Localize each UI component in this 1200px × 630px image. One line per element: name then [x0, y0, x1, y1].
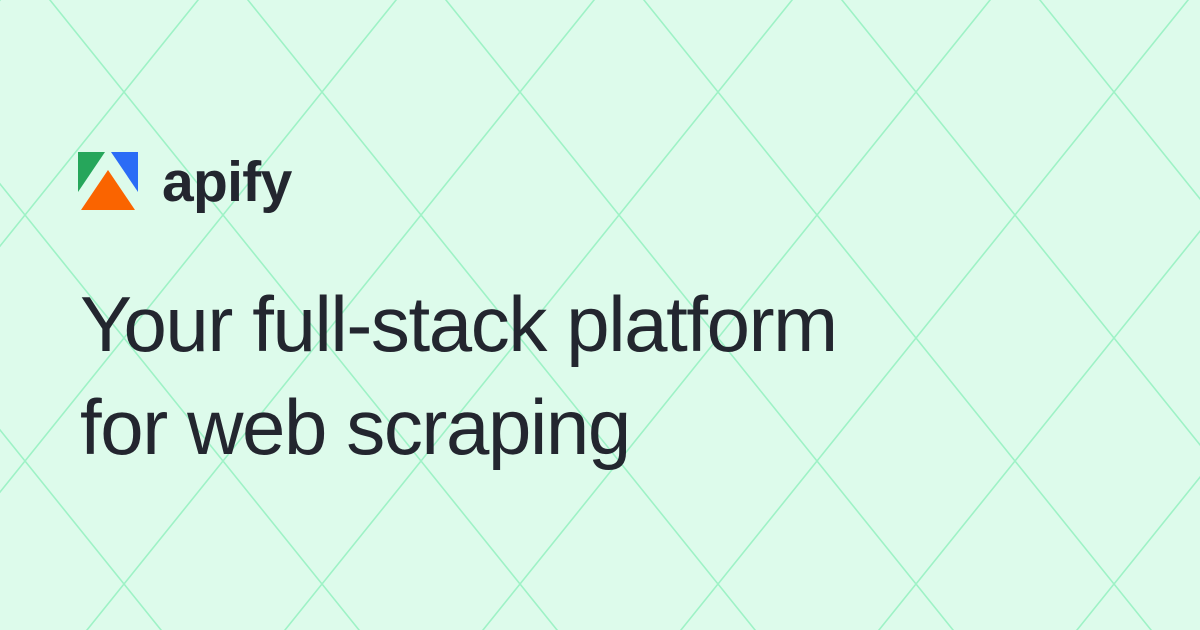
brand-lockup: apify [78, 151, 1040, 211]
og-card: apify Your full-stack platform for web s… [0, 0, 1200, 630]
apify-wordmark: apify [162, 154, 292, 211]
card-content: apify Your full-stack platform for web s… [80, 0, 1040, 630]
logo-triangle-orange [81, 170, 135, 210]
apify-logo-icon [78, 152, 138, 210]
page-title: Your full-stack platform for web scrapin… [80, 273, 1000, 479]
